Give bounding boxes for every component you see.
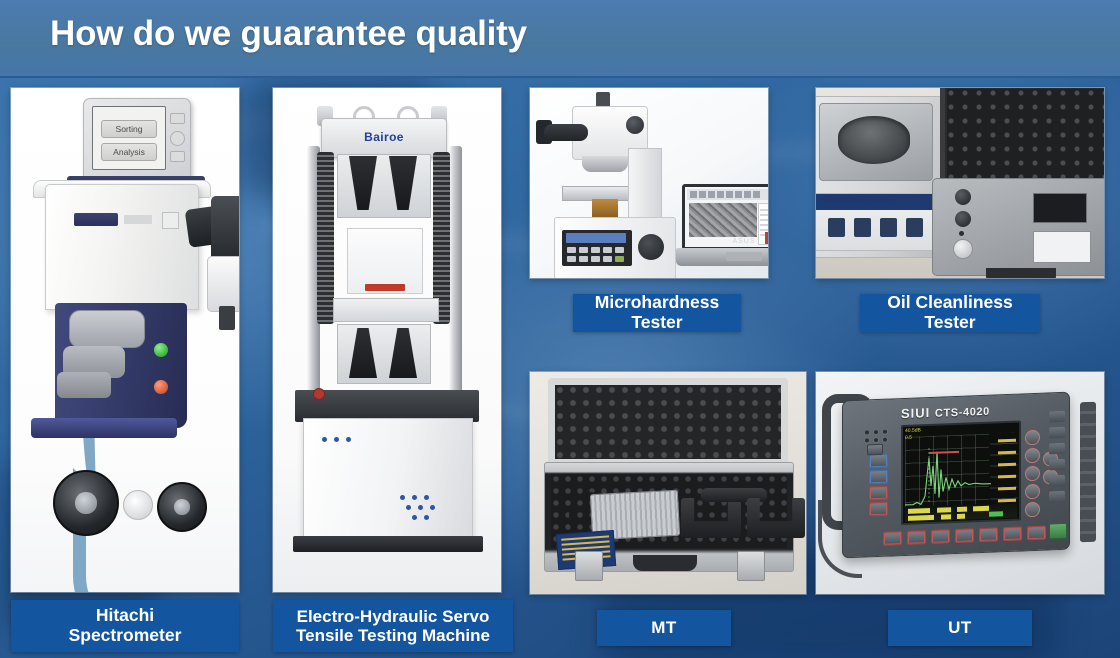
case-handle[interactable]	[986, 268, 1056, 278]
mt-case-handle[interactable]	[633, 555, 697, 571]
laptop-base	[676, 248, 768, 266]
page-title: How do we guarantee quality	[50, 14, 527, 54]
status-led-red	[154, 380, 168, 394]
spectrometer-caster	[123, 490, 153, 520]
cleaner-label: ULTRASONIC CLEANER	[822, 198, 896, 204]
mt-case-insert	[551, 474, 787, 548]
monitor-power-button[interactable]	[170, 131, 185, 146]
tester-power-button[interactable]	[953, 239, 973, 259]
caption-magnetic-particle-testing: MT	[597, 610, 731, 646]
screen-status-bar	[905, 504, 1017, 522]
mt-case-body	[544, 462, 794, 572]
screen-button-analysis[interactable]: Analysis	[101, 143, 157, 161]
software-toolbar[interactable]	[687, 189, 768, 200]
eyepiece	[544, 124, 588, 141]
mt-carry-case	[544, 378, 792, 574]
mt-case-latch-right[interactable]	[737, 551, 765, 581]
case-foam	[947, 89, 1104, 179]
magnetic-yoke-1	[681, 498, 741, 538]
measurement-table	[758, 203, 768, 245]
tensile-machine-illustration: Bairoe	[273, 88, 501, 592]
bellows-left	[317, 152, 334, 324]
micrograph-view	[689, 203, 757, 237]
caption-microhardness-tester: MicrohardnessTester	[573, 294, 741, 332]
ut-detector-illustration: SIUI CTS-4020 40.5dB 0.5	[816, 372, 1104, 594]
caption-text: MT	[651, 618, 677, 637]
analysis-laptop: ASUS	[676, 184, 768, 268]
cleaner-digit-4	[906, 218, 923, 237]
spectrometer-cabinet	[45, 184, 199, 310]
screen-menu-column[interactable]	[990, 433, 1018, 504]
spectrometer-wheel-left	[53, 470, 119, 536]
spectrometer-clamp-3	[57, 372, 111, 398]
microhardness-illustration: ASUS	[530, 88, 768, 278]
caption-text: Oil CleanlinessTester	[887, 293, 1012, 333]
emergency-stop-button[interactable]	[313, 388, 325, 400]
red-marker-upper	[365, 284, 405, 291]
photo-oil-cleanliness-tester: ULTRASONIC CLEANER	[816, 88, 1104, 278]
brand-plate	[74, 213, 118, 226]
objective-turret	[582, 156, 628, 172]
caption-hitachi-spectrometer: HitachiSpectrometer	[11, 600, 239, 652]
slide-header: How do we guarantee quality	[0, 0, 1120, 78]
caption-text: Electro-Hydraulic ServoTensile Testing M…	[296, 607, 490, 646]
keypad-lcd	[566, 233, 626, 243]
tensile-crosshead: Bairoe	[321, 118, 447, 158]
head-knob[interactable]	[626, 116, 644, 134]
caption-text: MicrohardnessTester	[595, 293, 719, 333]
column-right	[449, 146, 462, 398]
mt-lid-foam	[555, 385, 781, 459]
control-keypad[interactable]	[562, 230, 632, 266]
spectrometer-wheel-right	[157, 482, 207, 532]
spectrometer-illustration: Sorting Analysis	[11, 88, 239, 592]
stage-post	[592, 199, 618, 217]
mt-kit-illustration	[530, 372, 806, 594]
photo-tensile-testing-machine: Bairoe	[273, 88, 501, 592]
caption-text: UT	[948, 618, 972, 637]
tester-unit	[932, 178, 1104, 276]
laptop-screen	[685, 187, 768, 247]
detector-brand: SIUI CTS-4020	[901, 403, 990, 421]
tester-display	[1033, 193, 1087, 223]
laptop-brand: ASUS	[732, 238, 755, 245]
cleaner-control-panel[interactable]: ULTRASONIC CLEANER	[816, 193, 937, 251]
detector-bumper-right	[1080, 402, 1096, 543]
photo-magnetic-particle-testing	[530, 372, 806, 594]
cleaner-tank	[819, 103, 933, 181]
mt-case-latch-left[interactable]	[575, 551, 603, 581]
cleaner-digit-1	[828, 218, 845, 237]
tensile-floor-pad	[293, 536, 483, 552]
mt-case-lid	[548, 378, 788, 466]
monitor-side-button-2[interactable]	[170, 151, 185, 162]
cleaner-digit-3	[880, 218, 897, 237]
spectrometer-probe-body	[207, 256, 239, 312]
screen-readout-top: 40.5dB 0.5	[905, 427, 921, 441]
oil-tester-case	[932, 88, 1104, 278]
tester-knob-2[interactable]	[955, 211, 971, 227]
caption-tensile-testing-machine: Electro-Hydraulic ServoTensile Testing M…	[273, 600, 513, 652]
photo-ultrasonic-testing: SIUI CTS-4020 40.5dB 0.5	[816, 372, 1104, 594]
photo-microhardness-tester: ASUS	[530, 88, 768, 278]
hydraulic-power-unit	[303, 418, 473, 538]
detector-body: SIUI CTS-4020 40.5dB 0.5	[842, 392, 1070, 559]
machine-brand: Bairoe	[322, 130, 446, 144]
oil-cleanliness-illustration: ULTRASONIC CLEANER	[816, 88, 1104, 278]
screen-button-sorting[interactable]: Sorting	[101, 120, 157, 138]
laptop-trackpad[interactable]	[726, 252, 762, 261]
spectrometer-screen: Sorting Analysis	[92, 106, 166, 170]
photo-hitachi-spectrometer: Sorting Analysis	[11, 88, 239, 592]
tensile-mid-bar	[333, 298, 439, 322]
detector-screen: 40.5dB 0.5	[901, 421, 1021, 526]
cleaner-digit-2	[854, 218, 871, 237]
cabinet-label	[124, 215, 152, 224]
case-lid	[940, 88, 1104, 186]
spectrometer-monitor: Sorting Analysis	[83, 98, 191, 182]
spectrometer-base	[31, 418, 177, 438]
elevation-handwheel[interactable]	[638, 234, 664, 260]
caption-oil-cleanliness-tester: Oil CleanlinessTester	[860, 294, 1040, 332]
spectrometer-clamp-1	[69, 310, 145, 348]
tester-printer-slot	[1033, 231, 1091, 263]
cabinet-qr-label	[162, 212, 179, 229]
magnetic-yoke-2	[747, 498, 805, 538]
caption-ultrasonic-testing: UT	[888, 610, 1032, 646]
ultrasonic-cleaner: ULTRASONIC CLEANER	[816, 96, 944, 258]
slide-root: How do we guarantee quality Sorting Anal…	[0, 0, 1120, 658]
tester-knob-1[interactable]	[955, 189, 971, 205]
monitor-side-button[interactable]	[170, 113, 185, 124]
status-led-green	[154, 343, 168, 357]
caption-text: HitachiSpectrometer	[69, 606, 182, 646]
cleaner-brand-strip: ULTRASONIC CLEANER	[816, 194, 936, 210]
spectrometer-probe-nozzle	[219, 306, 235, 330]
